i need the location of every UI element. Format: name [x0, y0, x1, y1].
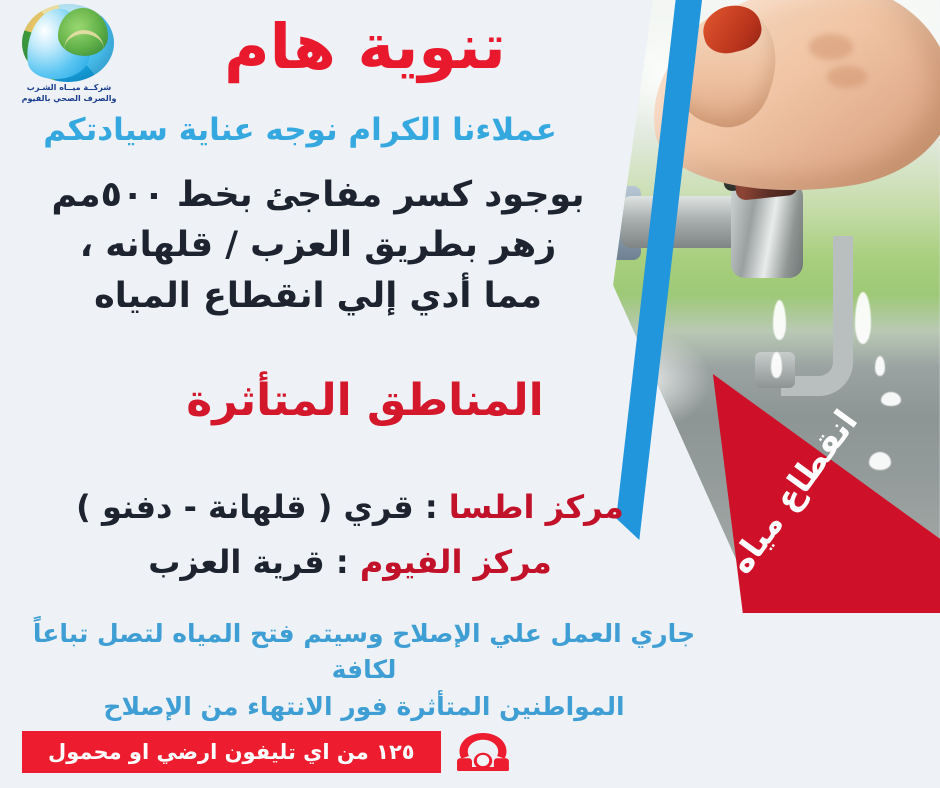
knuckle-shadow	[809, 34, 853, 60]
company-logo: شركــة ميــاه الشـرب والصرف الصحي بالفيو…	[14, 4, 124, 104]
area-separator: :	[414, 488, 449, 526]
affected-areas-list: مركز اطسا : قري ( قلهانة - دفنو ) مركز ا…	[10, 480, 690, 590]
closing-note-line1: جاري العمل علي الإصلاح وسيتم فتح المياه …	[14, 616, 714, 689]
notice-body-line1: بوجود كسر مفاجئ بخط ٥٠٠مم	[18, 170, 618, 220]
tap-arm	[621, 196, 749, 248]
area-separator: :	[325, 543, 360, 581]
page-subtitle: عملاءنا الكرام نوجه عناية سيادتكم	[20, 112, 580, 148]
water-drip	[771, 352, 782, 378]
affected-area-row: مركز اطسا : قري ( قلهانة - دفنو )	[10, 480, 690, 535]
area-center-name: مركز الفيوم	[360, 543, 552, 581]
notice-body-line2: زهر بطريق العزب / قلهانه ،	[18, 220, 618, 270]
closing-note: جاري العمل علي الإصلاح وسيتم فتح المياه …	[14, 616, 714, 725]
notice-body-line3: مما أدي إلي انقطاع المياه	[18, 271, 618, 321]
knuckle-shadow	[827, 66, 867, 88]
page-title: تنوية هام	[150, 8, 580, 86]
logo-text: شركــة ميــاه الشـرب والصرف الصحي بالفيو…	[14, 82, 124, 104]
area-villages: قري ( قلهانة - دفنو )	[76, 488, 414, 526]
water-splash	[881, 392, 901, 406]
logo-text-line2: والصرف الصحي بالفيوم	[14, 93, 124, 104]
area-center-name: مركز اطسا	[449, 488, 624, 526]
poster-canvas: انقطاع مياه شركــة ميــاه الشـرب والصرف …	[0, 0, 940, 788]
area-villages: قرية العزب	[148, 543, 325, 581]
water-drip	[773, 300, 786, 340]
hotline-text: ١٢٥ من اي تليفون ارضي او محمول	[22, 731, 441, 773]
hotline-bar-group: ١٢٥ من اي تليفون ارضي او محمول	[22, 728, 515, 776]
telephone-icon	[451, 728, 515, 776]
water-splash	[869, 452, 891, 470]
logo-text-line1: شركــة ميــاه الشـرب	[14, 82, 124, 93]
affected-areas-heading: المناطق المتأثرة	[150, 375, 580, 426]
notice-body: بوجود كسر مفاجئ بخط ٥٠٠مم زهر بطريق العز…	[18, 170, 618, 321]
closing-note-line2: المواطنين المتأثرة فور الانتهاء من الإصل…	[14, 689, 714, 725]
affected-area-row: مركز الفيوم : قرية العزب	[10, 535, 690, 590]
water-drip	[875, 356, 885, 376]
